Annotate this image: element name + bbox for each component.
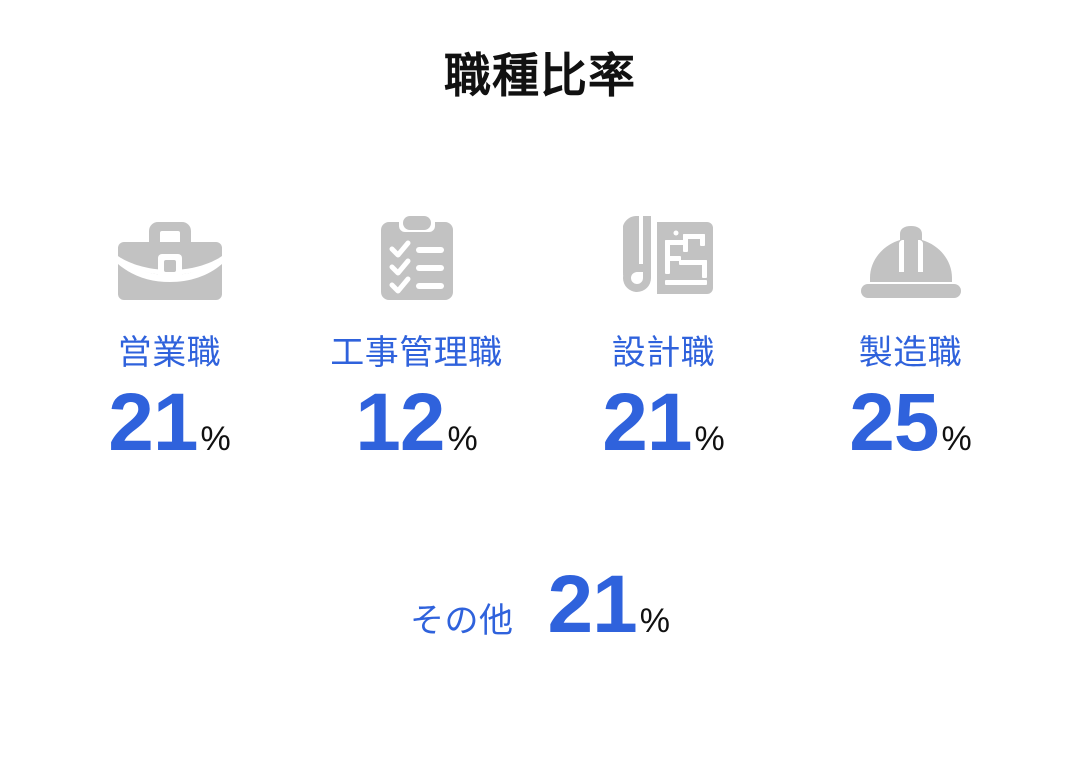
- job-category-label: その他: [410, 604, 514, 638]
- job-category-label: 工事管理職: [330, 336, 503, 370]
- job-category-label: 製造職: [859, 336, 963, 370]
- percent-symbol: %: [200, 422, 230, 456]
- job-category-percent-number: 21: [548, 566, 637, 644]
- job-category-value: 25 %: [849, 384, 971, 462]
- job-category-percent-number: 21: [602, 384, 691, 462]
- percent-symbol: %: [640, 604, 670, 638]
- job-category-design: 設計職 21 %: [540, 208, 787, 462]
- briefcase-icon: [118, 208, 222, 300]
- hard-hat-icon: [857, 208, 965, 300]
- job-category-sales: 営業職 21 %: [46, 208, 293, 462]
- job-category-other: その他 21 %: [0, 566, 1080, 644]
- page-title: 職種比率: [0, 52, 1080, 99]
- job-category-columns: 営業職 21 %: [0, 208, 1080, 462]
- percent-symbol: %: [941, 422, 971, 456]
- blueprint-roll-icon: [615, 208, 713, 300]
- job-category-percent-number: 21: [108, 384, 197, 462]
- percent-symbol: %: [694, 422, 724, 456]
- job-category-value: 21 %: [602, 384, 724, 462]
- job-category-label: 設計職: [612, 336, 716, 370]
- job-category-label: 営業職: [118, 336, 222, 370]
- percent-symbol: %: [447, 422, 477, 456]
- job-category-value: 21 %: [108, 384, 230, 462]
- job-category-construction-management: 工事管理職 12 %: [293, 208, 540, 462]
- job-category-manufacturing: 製造職 25 %: [787, 208, 1034, 462]
- clipboard-checklist-icon: [377, 208, 457, 300]
- job-ratio-infographic: 職種比率: [0, 0, 1080, 760]
- job-category-value: 12 %: [355, 384, 477, 462]
- job-category-percent-number: 12: [355, 384, 444, 462]
- job-category-percent-number: 25: [849, 384, 938, 462]
